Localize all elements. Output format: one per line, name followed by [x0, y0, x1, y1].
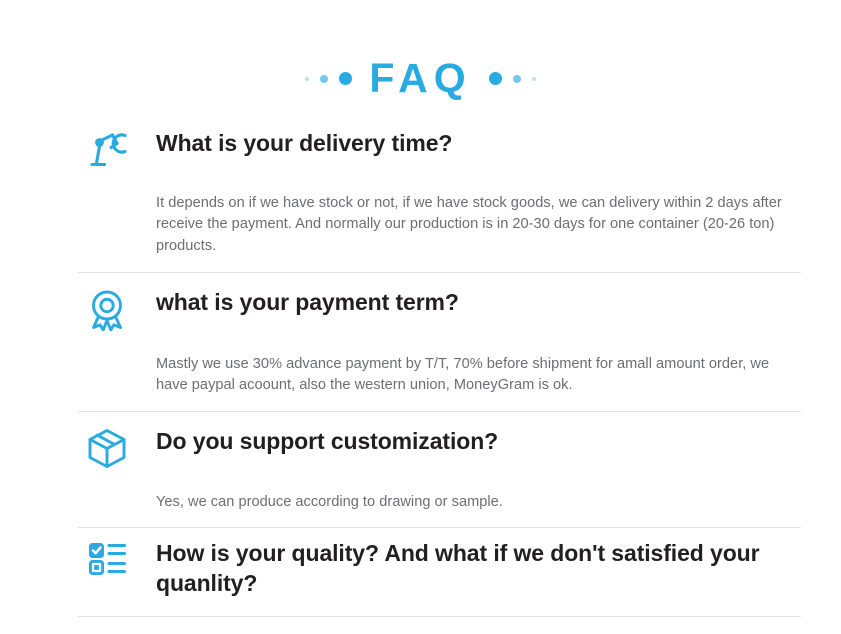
faq-answer-text: It depends on if we have stock or not, i… — [156, 193, 801, 257]
title-left-dots — [305, 72, 352, 85]
faq-question-text: What is your delivery time? — [156, 128, 801, 159]
large-dot-icon — [339, 72, 352, 85]
faq-page: FAQ — [0, 0, 841, 634]
title-right-dots — [489, 72, 536, 85]
faq-answer-text: Yes, we can produce according to drawing… — [156, 492, 801, 513]
faq-item: How is your quality? And what if we don'… — [78, 538, 801, 634]
faq-question-text: what is your payment term? — [156, 287, 801, 318]
faq-answer-text: We produce your order strictly by your r… — [156, 631, 801, 634]
robotic-arm-icon — [78, 128, 156, 170]
large-dot-icon — [489, 72, 502, 85]
checklist-icon — [78, 538, 156, 578]
faq-answer-text: Mastly we use 30% advance payment by T/T… — [156, 354, 801, 397]
faq-question-row[interactable]: Do you support customization? — [78, 426, 801, 469]
medium-dot-icon — [513, 75, 521, 83]
faq-list: What is your delivery time? It depends o… — [78, 128, 801, 634]
faq-question-text: How is your quality? And what if we don'… — [156, 538, 801, 599]
faq-item: What is your delivery time? It depends o… — [78, 128, 801, 257]
small-dot-icon — [305, 77, 309, 81]
faq-item: what is your payment term? Mastly we use… — [78, 287, 801, 397]
medium-dot-icon — [320, 75, 328, 83]
faq-question-text: Do you support customization? — [156, 426, 801, 457]
faq-question-row[interactable]: what is your payment term? — [78, 287, 801, 331]
award-ribbon-icon — [78, 287, 156, 331]
page-title: FAQ — [369, 58, 471, 99]
package-box-icon — [78, 426, 156, 469]
faq-item: Do you support customization? Yes, we ca… — [78, 426, 801, 513]
small-dot-icon — [532, 77, 536, 81]
faq-title-row: FAQ — [0, 58, 841, 99]
faq-question-row[interactable]: What is your delivery time? — [78, 128, 801, 170]
faq-question-row[interactable]: How is your quality? And what if we don'… — [78, 538, 801, 599]
